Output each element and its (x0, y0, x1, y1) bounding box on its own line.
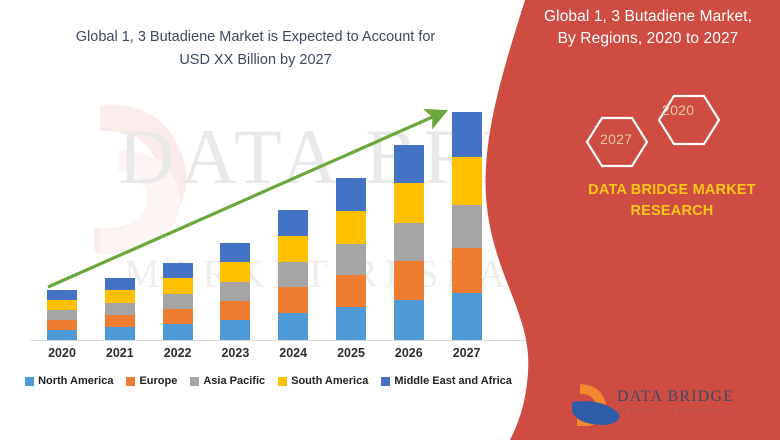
bar-segment (278, 262, 308, 287)
bar-segment (394, 145, 424, 183)
bar-segment (336, 275, 366, 307)
hexagon-2027-label: 2027 (600, 131, 632, 147)
x-axis-label-2022: 2022 (148, 346, 208, 360)
bar-2025 (336, 178, 366, 340)
bar-segment (47, 330, 77, 340)
legend-label: Asia Pacific (203, 375, 265, 387)
bar-segment (105, 290, 135, 303)
bar-segment (163, 309, 193, 324)
bar-segment (394, 261, 424, 300)
bar-segment (336, 307, 366, 340)
legend-swatch-icon (126, 377, 135, 386)
bar-segment (394, 300, 424, 340)
legend-item-south-america[interactable]: South America (278, 375, 368, 387)
bar-segment (220, 301, 250, 320)
bar-segment (336, 178, 366, 211)
bar-segment (220, 320, 250, 340)
bar-segment (105, 327, 135, 340)
right-panel-title: Global 1, 3 Butadiene Market, By Regions… (520, 6, 776, 50)
bar-segment (336, 211, 366, 244)
legend-swatch-icon (25, 377, 34, 386)
legend-label: South America (291, 375, 368, 387)
legend-swatch-icon (381, 377, 390, 386)
bar-2023 (220, 243, 250, 340)
slide-canvas: DATA BRIDGE MARKET RESEARCH Global 1, 3 … (0, 0, 780, 440)
bar-2024 (278, 210, 308, 340)
bar-segment (336, 244, 366, 275)
bar-segment (105, 278, 135, 290)
bar-segment (105, 315, 135, 327)
logo-tagline: MARKET RESEARCH (619, 406, 731, 415)
x-axis-label-2024: 2024 (263, 346, 323, 360)
right-panel-title-line1: Global 1, 3 Butadiene Market, (520, 6, 776, 28)
brand-name: DATA BRIDGE MARKET RESEARCH (574, 180, 770, 222)
bar-segment (105, 303, 135, 315)
bar-segment (278, 236, 308, 262)
bar-segment (47, 320, 77, 330)
bar-2027 (452, 112, 482, 340)
bar-segment (220, 282, 250, 301)
logo-wordmark: DATA BRIDGE (617, 388, 734, 406)
legend-item-north-america[interactable]: North America (25, 375, 113, 387)
chart-plot-area (0, 0, 540, 360)
brand-name-line1: DATA BRIDGE MARKET (574, 180, 770, 201)
bar-segment (47, 310, 77, 320)
bar-segment (452, 157, 482, 205)
bar-segment (394, 223, 424, 261)
bars-layer (0, 0, 540, 340)
bar-2022 (163, 263, 193, 340)
bar-segment (452, 293, 482, 340)
bar-segment (278, 313, 308, 340)
bar-segment (394, 183, 424, 223)
brand-name-line2: RESEARCH (574, 201, 770, 222)
chart-legend: North AmericaEuropeAsia PacificSouth Ame… (16, 375, 521, 387)
bar-2026 (394, 145, 424, 340)
right-panel-title-line2: By Regions, 2020 to 2027 (520, 28, 776, 50)
x-axis-labels: 20202021202220232024202520262027 (0, 346, 540, 366)
bar-segment (163, 294, 193, 309)
bar-segment (452, 112, 482, 157)
bar-segment (452, 205, 482, 248)
bar-segment (163, 278, 193, 294)
legend-swatch-icon (278, 377, 287, 386)
bar-segment (163, 263, 193, 278)
legend-swatch-icon (190, 377, 199, 386)
bar-segment (220, 262, 250, 282)
bar-segment (47, 290, 77, 300)
x-axis-label-2025: 2025 (321, 346, 381, 360)
x-axis-line (30, 340, 530, 341)
bar-2021 (105, 278, 135, 340)
bar-segment (220, 243, 250, 262)
x-axis-label-2023: 2023 (205, 346, 265, 360)
x-axis-label-2020: 2020 (32, 346, 92, 360)
legend-label: North America (38, 375, 113, 387)
bar-2020 (47, 290, 77, 340)
bar-segment (452, 248, 482, 293)
x-axis-label-2021: 2021 (90, 346, 150, 360)
bar-segment (278, 210, 308, 236)
bar-segment (278, 287, 308, 313)
hexagon-2020-label: 2020 (662, 102, 694, 118)
x-axis-label-2026: 2026 (379, 346, 439, 360)
legend-label: Europe (139, 375, 177, 387)
legend-item-europe[interactable]: Europe (126, 375, 177, 387)
bar-segment (47, 300, 77, 310)
bar-segment (163, 324, 193, 340)
logo-b-icon (572, 384, 620, 426)
legend-item-asia-pacific[interactable]: Asia Pacific (190, 375, 265, 387)
